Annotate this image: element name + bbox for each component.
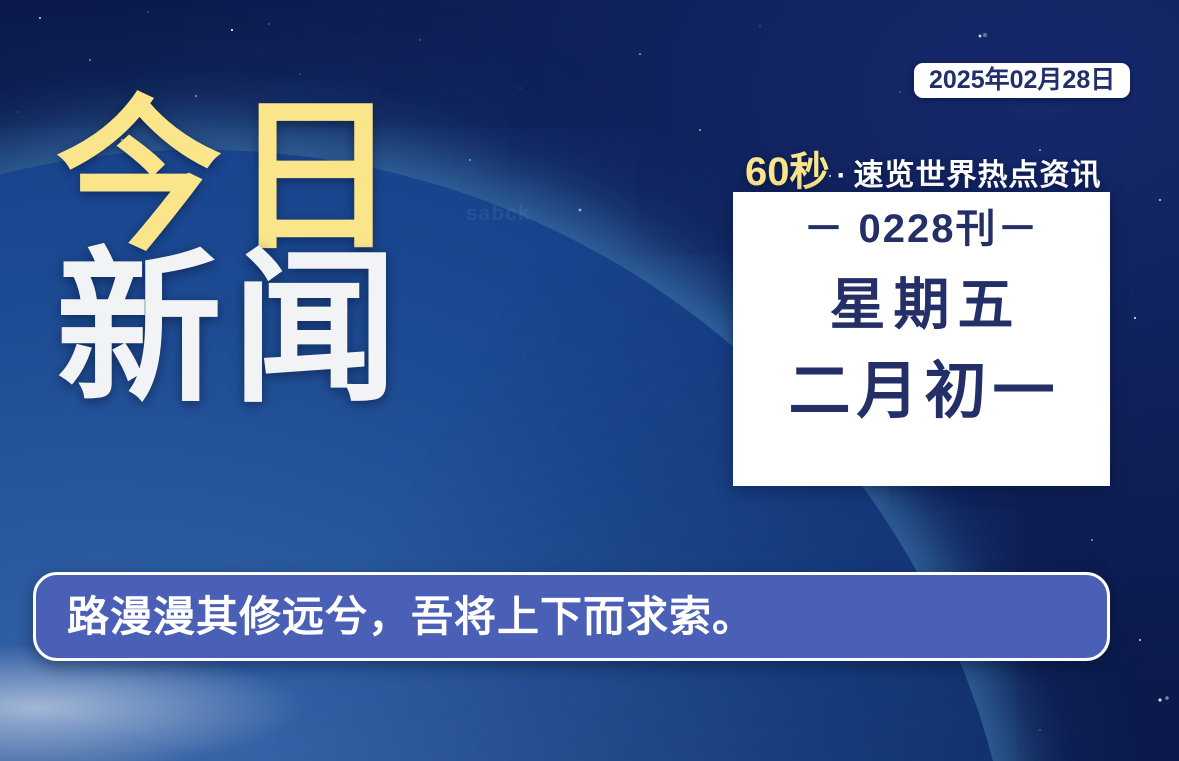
tagline-seconds: 60秒	[745, 139, 830, 197]
headline-line-news: 新闻	[56, 248, 476, 412]
weekday-label: 星期五	[822, 274, 1022, 336]
headline: 今日 新闻	[56, 96, 476, 413]
info-card: － 0228刊－ 星期五 二月初一	[733, 192, 1110, 486]
date-badge-label: 2025年02月28日	[929, 68, 1115, 93]
quote-text: 路漫漫其修远兮，吾将上下而求索。	[67, 596, 755, 638]
issue-number-label: － 0228刊－	[803, 206, 1039, 252]
date-badge: 2025年02月28日	[914, 63, 1130, 98]
lunar-date-label: 二月初一	[782, 358, 1060, 426]
news-poster: sabck 今日 新闻 2025年02月28日 60秒 · 速览世界热点资讯 －…	[0, 0, 1179, 761]
quote-bar: 路漫漫其修远兮，吾将上下而求索。	[33, 572, 1110, 661]
tagline: 60秒 · 速览世界热点资讯	[745, 139, 1102, 197]
tagline-separator-dot: ·	[837, 159, 847, 193]
tagline-subtitle: 速览世界热点资讯	[854, 150, 1102, 194]
